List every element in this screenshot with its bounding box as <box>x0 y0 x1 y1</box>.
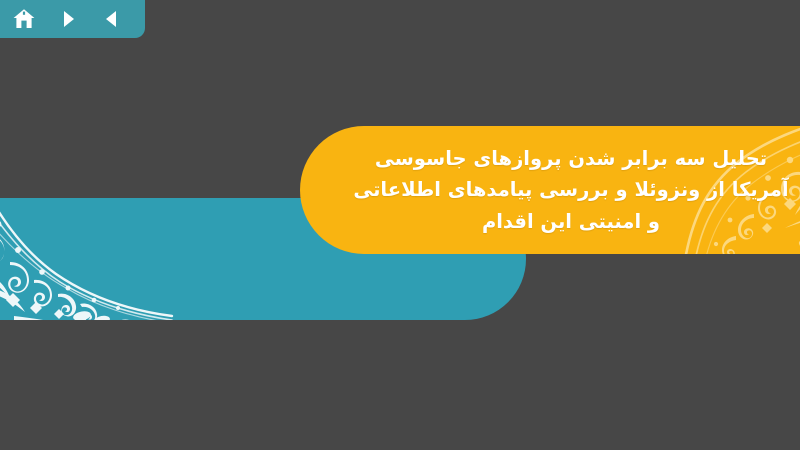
navigation-toolbar <box>0 0 145 38</box>
page-title: تحلیل سه برابر شدن پروازهای جاسوسی آمریک… <box>300 143 800 238</box>
headline-line-3: و امنیتی این اقدام <box>346 206 796 238</box>
back-arrow-icon <box>101 8 123 30</box>
forward-button[interactable] <box>55 6 81 32</box>
headline-panel: تحلیل سه برابر شدن پروازهای جاسوسی آمریک… <box>300 126 800 254</box>
arabesque-corner-ornament-teal <box>0 198 174 320</box>
slide-canvas: تحلیل سه برابر شدن پروازهای جاسوسی آمریک… <box>0 0 800 450</box>
back-button[interactable] <box>99 6 125 32</box>
home-button[interactable] <box>11 6 37 32</box>
headline-line-1: تحلیل سه برابر شدن پروازهای جاسوسی <box>346 143 796 175</box>
home-icon <box>12 7 36 31</box>
headline-line-2: آمریکا از ونزوئلا و بررسی پیامدهای اطلاع… <box>346 174 796 206</box>
forward-arrow-icon <box>57 8 79 30</box>
